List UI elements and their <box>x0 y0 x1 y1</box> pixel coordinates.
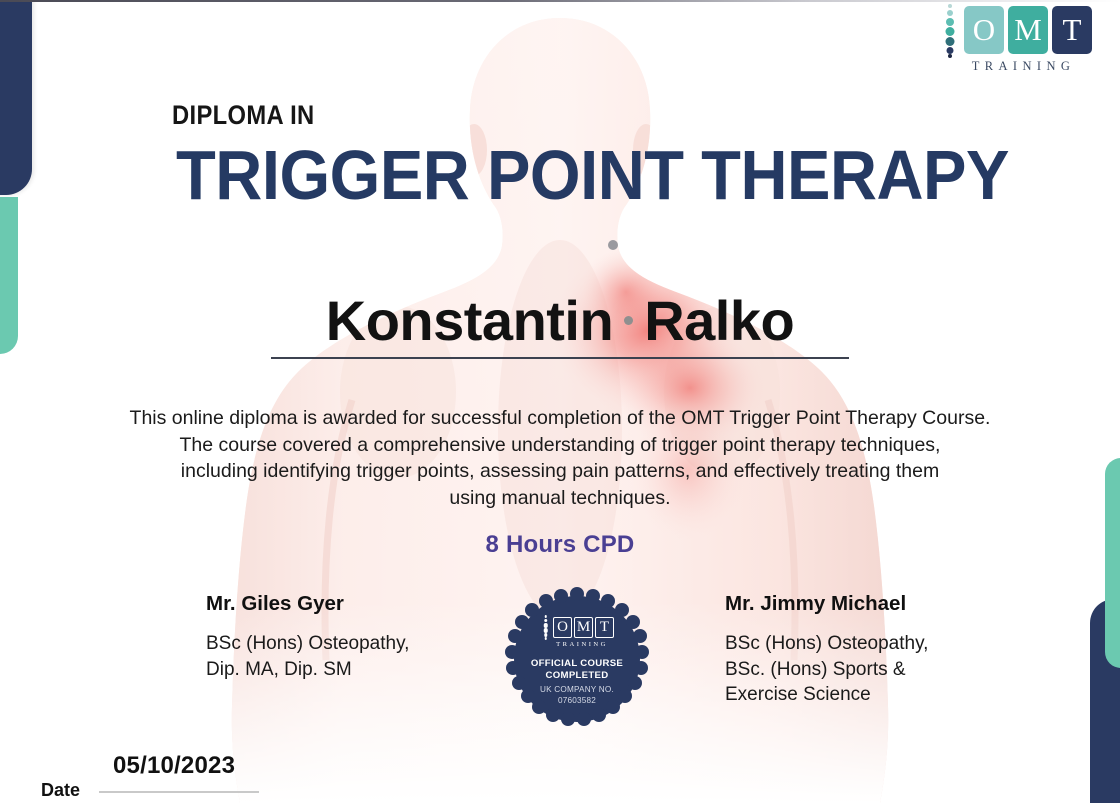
signatory-name: Mr. Giles Gyer <box>206 592 409 616</box>
recipient-name: KonstantinRalko <box>0 288 1120 353</box>
badge-wordmark: TRAINING <box>546 641 608 648</box>
cpd-hours-label: 8 Hours CPD <box>0 531 1120 559</box>
signatory-qualifications: BSc (Hons) Osteopathy, Dip. MA, Dip. SM <box>206 631 409 682</box>
badge-status-line-1: OFFICIAL COURSE <box>531 658 623 670</box>
top-edge-hairline <box>0 0 1120 2</box>
signatory-block-left: Mr. Giles Gyer BSc (Hons) Osteopathy, Di… <box>206 592 409 682</box>
signatory-qual-line: BSc (Hons) Osteopathy, <box>725 631 928 657</box>
signatory-name: Mr. Jimmy Michael <box>725 592 928 616</box>
spine-dots-icon <box>939 4 961 56</box>
omt-tile-t: T <box>1052 6 1092 54</box>
signatory-qual-line: BSc (Hons) Osteopathy, <box>206 631 409 657</box>
official-course-badge: O M T TRAINING OFFICIAL COURSE COMPLETED… <box>503 585 651 733</box>
body-line-4: using manual techniques. <box>60 485 1060 512</box>
date-signature-line <box>99 791 259 793</box>
decor-bar-top-left-teal <box>0 197 18 354</box>
signatory-qualifications: BSc (Hons) Osteopathy, BSc. (Hons) Sport… <box>725 631 928 708</box>
badge-spine-dots-icon <box>540 615 551 639</box>
badge-logo-row: O M T <box>540 615 614 639</box>
signatory-qual-line: BSc. (Hons) Sports & <box>725 657 928 683</box>
certificate-body-text: This online diploma is awarded for succe… <box>60 405 1060 511</box>
badge-tile-t: T <box>595 617 614 638</box>
signatory-qual-line: Dip. MA, Dip. SM <box>206 657 409 683</box>
omt-logo-row: O M T <box>939 4 1092 56</box>
body-line-2: The course covered a comprehensive under… <box>60 432 1060 459</box>
recipient-first-name: Konstantin <box>326 289 613 352</box>
badge-letter-tiles: O M T <box>553 617 614 638</box>
date-label: Date <box>41 780 80 801</box>
body-line-3: including identifying trigger points, as… <box>60 458 1060 485</box>
recipient-last-name: Ralko <box>644 289 794 352</box>
omt-training-logo: O M T TRAINING <box>939 4 1092 74</box>
badge-company-info: UK COMPANY NO. 07603582 <box>540 685 614 706</box>
certificate-title: TRIGGER POINT THERAPY <box>176 140 1009 210</box>
recipient-underline <box>271 357 849 359</box>
body-line-1: This online diploma is awarded for succe… <box>60 405 1060 432</box>
name-separator-dot <box>624 316 633 325</box>
badge-company-number: 07603582 <box>540 696 614 707</box>
badge-company-label: UK COMPANY NO. <box>540 685 614 696</box>
signatory-block-right: Mr. Jimmy Michael BSc (Hons) Osteopathy,… <box>725 592 928 708</box>
badge-content: O M T TRAINING OFFICIAL COURSE COMPLETED… <box>503 585 651 733</box>
decor-bar-top-left-navy <box>0 0 32 195</box>
certificate-canvas: O M T TRAINING DIPLOMA IN TRIGGER POINT … <box>0 0 1120 803</box>
badge-tile-m: M <box>574 617 593 638</box>
decor-bar-bottom-right-teal <box>1105 458 1120 668</box>
diploma-kicker: DIPLOMA IN <box>172 100 315 131</box>
omt-letter-tiles: O M T <box>964 6 1092 54</box>
badge-status-text: OFFICIAL COURSE COMPLETED <box>531 658 623 681</box>
badge-tile-o: O <box>553 617 572 638</box>
badge-status-line-2: COMPLETED <box>531 670 623 682</box>
date-value: 05/10/2023 <box>113 752 235 780</box>
signatory-qual-line: Exercise Science <box>725 682 928 708</box>
omt-logo-wordmark: TRAINING <box>956 59 1076 74</box>
omt-tile-o: O <box>964 6 1004 54</box>
omt-tile-m: M <box>1008 6 1048 54</box>
